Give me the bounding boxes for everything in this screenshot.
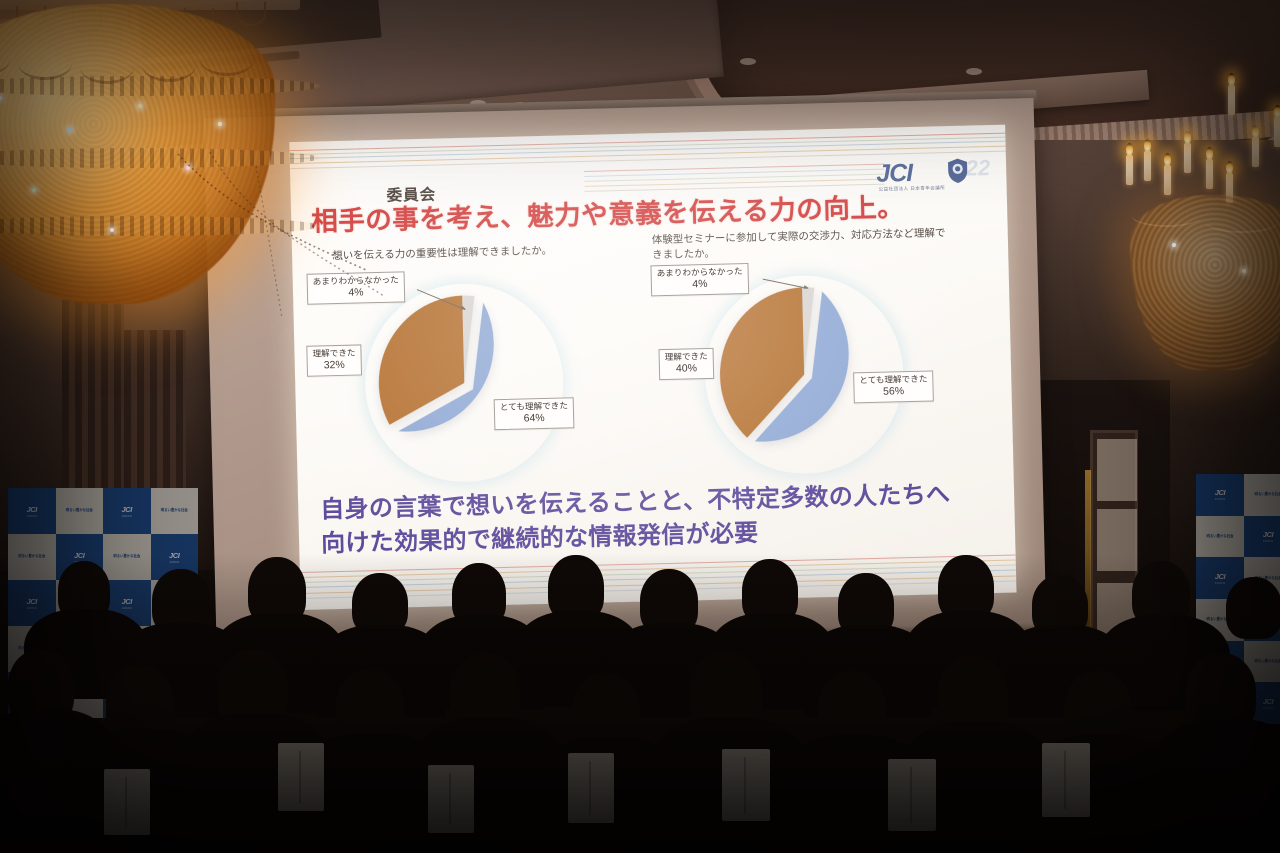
- chandelier-scallop: [142, 48, 196, 82]
- callout-value: 4%: [657, 277, 743, 292]
- chandelier-bead-ring: [0, 216, 320, 236]
- sparkle-icon: [1172, 243, 1176, 247]
- pie-chart-right: あまりわからなかった 4% 理解できた 40% とても理解できた 56%: [644, 257, 997, 477]
- slide-conclusion: 自身の言葉で想いを伝えることと、不特定多数の人たちへ 向けた効果的で継続的な情報…: [320, 477, 997, 562]
- callout-label: 理解できた: [312, 348, 355, 360]
- sparkle-icon: [1242, 269, 1246, 273]
- callout-left-blue: とても理解できた 64%: [494, 397, 575, 430]
- callout-value: 32%: [313, 358, 356, 372]
- sparkle-icon: [218, 122, 222, 126]
- banner-jci-subtitle: JAPAN: [27, 514, 37, 518]
- callout-value: 4%: [313, 285, 399, 300]
- callout-label: あまりわからなかった: [657, 266, 743, 279]
- pie-chart-left: あまりわからなかった 4% 理解できた 32% とても理解できた 64%: [305, 265, 658, 485]
- audience: [0, 553, 1280, 853]
- banner-jci-wordmark: JCI: [1263, 530, 1273, 539]
- banner-jci-subtitle: JAPAN: [1215, 497, 1225, 501]
- ballroom-scene: 委員会 22 JCI 公益社団法人 日本青年会議所 相手の事を考え、魅力や: [0, 0, 1280, 853]
- chandelier-scallop: [80, 50, 134, 84]
- sparkle-icon: [186, 166, 190, 170]
- sparkle-icon: [138, 104, 142, 108]
- banner-jci-subtitle: JAPAN: [1263, 539, 1273, 543]
- chandelier-left: [0, 0, 320, 340]
- callout-value: 64%: [500, 411, 568, 426]
- sparkle-icon: [32, 188, 36, 192]
- door-pane: [1097, 439, 1137, 501]
- chandelier-scallop: [18, 46, 72, 80]
- callout-label: あまりわからなかった: [313, 275, 399, 288]
- presentation-slide: 委員会 22 JCI 公益社団法人 日本青年会議所 相手の事を考え、魅力や: [289, 125, 1016, 610]
- audience-darkening-overlay: [0, 553, 1280, 853]
- callout-value: 40%: [665, 362, 708, 376]
- callout-left-orange: 理解できた 32%: [306, 344, 362, 376]
- callout-right-orange: 理解できた 40%: [658, 348, 714, 380]
- chandelier-crystal-body: [1130, 195, 1280, 370]
- question-text-left: 想いを伝える力の重要性は理解できましたか。: [332, 242, 632, 265]
- sparkle-icon: [110, 228, 114, 232]
- callout-label: 理解できた: [665, 351, 708, 363]
- banner-jci-wordmark: JCI: [1215, 488, 1225, 497]
- banner-jci-wordmark: JCI: [122, 505, 132, 514]
- callout-left-gray: あまりわからなかった 4%: [307, 271, 406, 304]
- banner-jci-subtitle: JAPAN: [122, 514, 132, 518]
- callout-label: とても理解できた: [500, 400, 568, 412]
- banner-jci-wordmark: JCI: [27, 505, 37, 514]
- callout-right-gray: あまりわからなかった 4%: [650, 263, 749, 296]
- chandelier-bead-ring: [0, 148, 320, 168]
- callout-value: 56%: [859, 384, 927, 399]
- banner-slogan: 明るい豊かな社会: [66, 508, 93, 513]
- jci-shield-icon: [947, 158, 969, 185]
- sparkle-icon: [68, 128, 72, 132]
- banner-slogan: 明るい豊かな社会: [1206, 534, 1233, 539]
- downlight-icon: [740, 58, 756, 65]
- chandelier-scallop: [200, 42, 254, 76]
- chandelier-right: [1110, 55, 1280, 365]
- banner-slogan: 明るい豊かな社会: [1254, 492, 1280, 497]
- callout-right-blue: とても理解できた 56%: [853, 370, 934, 403]
- jci-logo-ghost: 22: [965, 155, 990, 182]
- downlight-icon: [966, 68, 982, 75]
- callout-label: とても理解できた: [859, 374, 927, 386]
- banner-slogan: 明るい豊かな社会: [161, 508, 188, 513]
